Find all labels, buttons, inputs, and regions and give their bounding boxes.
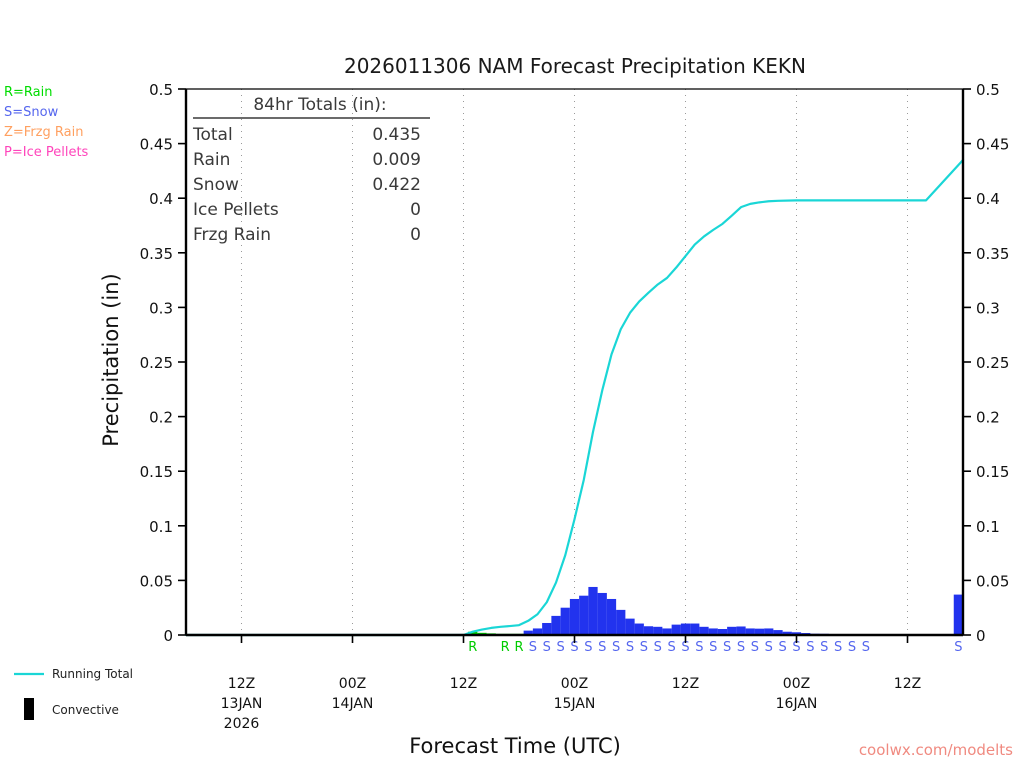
ptype-legend-s: S=Snow <box>4 105 59 120</box>
y-tick-label-right: 0.15 <box>976 463 1009 481</box>
ptype-char: S <box>954 640 962 655</box>
y-tick-label-left: 0.4 <box>149 190 173 208</box>
ptype-char: S <box>751 640 759 655</box>
ptype-char: S <box>556 640 564 655</box>
precip-bar <box>699 627 708 635</box>
ptype-char: S <box>695 640 703 655</box>
y-tick-label-right: 0.1 <box>976 518 1000 536</box>
x-tick-time: 00Z <box>783 676 810 692</box>
precip-bar <box>542 623 551 635</box>
y-tick-label-left: 0 <box>163 627 173 645</box>
y-tick-label-right: 0.35 <box>976 245 1009 263</box>
totals-row-value: 0.422 <box>372 175 421 195</box>
ptype-char: S <box>820 640 828 655</box>
totals-box-header: 84hr Totals (in): <box>253 95 386 115</box>
totals-row-value: 0.435 <box>372 125 421 145</box>
y-tick-label-right: 0.25 <box>976 354 1009 372</box>
totals-row-label: Ice Pellets <box>193 200 279 220</box>
precip-bar <box>616 610 625 635</box>
ptype-char: S <box>765 640 773 655</box>
ptype-legend-r: R=Rain <box>4 85 53 100</box>
precip-bar <box>672 625 681 635</box>
ptype-char: S <box>723 640 731 655</box>
ptype-char: S <box>654 640 662 655</box>
precip-bar <box>588 587 597 635</box>
precipitation-chart: 2026011306 NAM Forecast Precipitation KE… <box>0 0 1024 768</box>
y-tick-label-right: 0.4 <box>976 190 1000 208</box>
ptype-char: R <box>468 640 477 655</box>
ptype-legend-p: P=Ice Pellets <box>4 145 89 160</box>
chart-svg: 2026011306 NAM Forecast Precipitation KE… <box>0 0 1024 768</box>
y-tick-label-left: 0.35 <box>140 245 173 263</box>
x-tick-date: 13JAN <box>221 696 263 712</box>
y-tick-label-right: 0.5 <box>976 81 1000 99</box>
precip-bar <box>635 624 644 635</box>
watermark: coolwx.com/modelts <box>859 741 1013 759</box>
y-tick-label-right: 0.2 <box>976 409 1000 427</box>
precip-bar <box>551 616 560 635</box>
x-tick-date: 14JAN <box>332 696 374 712</box>
y-tick-label-left: 0.05 <box>140 572 173 590</box>
y-tick-label-right: 0 <box>976 627 986 645</box>
x-axis-label: Forecast Time (UTC) <box>409 734 621 758</box>
x-tick-date: 16JAN <box>776 696 818 712</box>
x-tick-time: 12Z <box>894 676 921 692</box>
ptype-char: S <box>709 640 717 655</box>
ptype-char: S <box>806 640 814 655</box>
ptype-legend-z: Z=Frzg Rain <box>4 125 83 140</box>
x-tick-time: 00Z <box>561 676 588 692</box>
ptype-char: S <box>529 640 537 655</box>
x-tick-time: 12Z <box>672 676 699 692</box>
y-tick-label-left: 0.2 <box>149 409 173 427</box>
y-tick-label-left: 0.1 <box>149 518 173 536</box>
totals-row-label: Rain <box>193 150 230 170</box>
y-tick-label-left: 0.15 <box>140 463 173 481</box>
totals-row-value: 0 <box>410 200 421 220</box>
totals-row-label: Frzg Rain <box>193 225 271 245</box>
ptype-char: S <box>862 640 870 655</box>
ptype-char: S <box>598 640 606 655</box>
precip-bar <box>598 593 607 635</box>
precip-bar <box>625 619 634 635</box>
legend-marker-convective <box>24 698 34 720</box>
y-tick-label-right: 0.05 <box>976 572 1009 590</box>
x-tick-time: 12Z <box>450 676 477 692</box>
precip-bar <box>690 624 699 635</box>
totals-row-label: Total <box>192 125 233 145</box>
y-tick-label-left: 0.45 <box>140 136 173 154</box>
precip-bar <box>727 627 736 635</box>
y-tick-label-left: 0.3 <box>149 299 173 317</box>
ptype-char: S <box>667 640 675 655</box>
ptype-char: R <box>514 640 523 655</box>
ptype-char: S <box>543 640 551 655</box>
x-tick-time: 00Z <box>339 676 366 692</box>
precip-bar <box>736 626 745 635</box>
precip-bar <box>570 599 579 635</box>
x-tick-date: 15JAN <box>554 696 596 712</box>
ptype-char: S <box>737 640 745 655</box>
precip-bar <box>607 599 616 635</box>
legend-label-convective: Convective <box>52 703 119 717</box>
precip-bar <box>681 624 690 635</box>
ptype-char: S <box>584 640 592 655</box>
x-tick-time: 12Z <box>228 676 255 692</box>
totals-row-value: 0.009 <box>372 150 421 170</box>
totals-row-value: 0 <box>410 225 421 245</box>
ptype-char: S <box>640 640 648 655</box>
ptype-char: S <box>612 640 620 655</box>
precip-bar <box>579 596 588 635</box>
precip-bar <box>561 608 570 635</box>
x-tick-year: 2026 <box>224 716 260 732</box>
precip-bar <box>954 595 963 635</box>
legend-label-running-total: Running Total <box>52 667 133 681</box>
ptype-char: S <box>834 640 842 655</box>
y-tick-label-left: 0.5 <box>149 81 173 99</box>
ptype-char: S <box>848 640 856 655</box>
totals-row-label: Snow <box>193 175 239 195</box>
ptype-char: R <box>501 640 510 655</box>
y-axis-label: Precipitation (in) <box>99 273 123 446</box>
y-tick-label-left: 0.25 <box>140 354 173 372</box>
ptype-char: S <box>626 640 634 655</box>
precip-bar <box>644 626 653 635</box>
precip-bar <box>653 627 662 635</box>
canvas-background <box>0 0 1024 768</box>
y-tick-label-right: 0.45 <box>976 136 1009 154</box>
y-tick-label-right: 0.3 <box>976 299 1000 317</box>
chart-title: 2026011306 NAM Forecast Precipitation KE… <box>344 54 806 78</box>
ptype-char: S <box>778 640 786 655</box>
